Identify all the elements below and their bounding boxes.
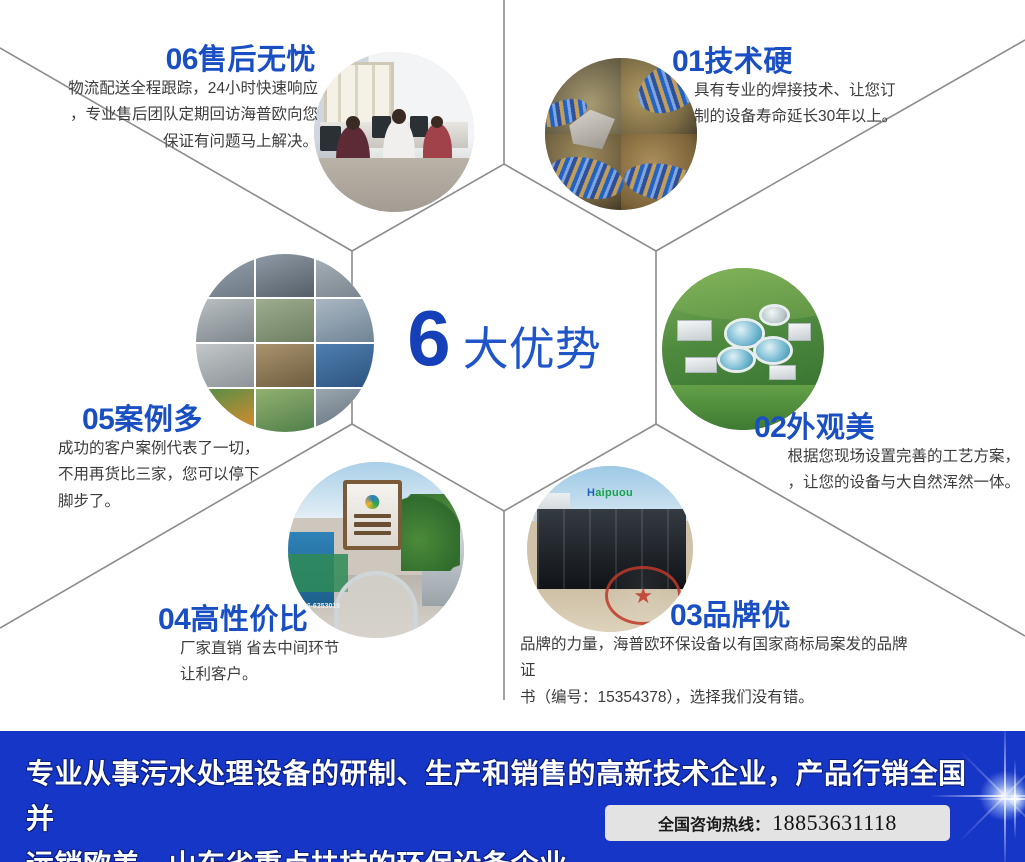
feature-03-title-text: 品牌优 [702,600,791,632]
feature-04-title: 04高性价比 [158,604,458,636]
feature-02-number: 02 [754,411,786,444]
bottom-banner: 专业从事污水处理设备的研制、生产和销售的高新技术企业，产品行销全国并 远销欧美，… [0,731,1025,862]
hotline-box[interactable]: 全国咨询热线： 18853631118 [605,805,950,841]
photo-office-team [314,52,474,212]
feature-03-number: 03 [670,599,702,632]
feature-06: 06售后无忧 物流配送全程跟踪，24小时快速响应 ，专业售后团队定期回访海普欧向… [18,44,318,155]
photo-aerial-plant [662,268,824,430]
center-label-text: 大优势 [463,326,601,372]
feature-02-title: 02外观美 [700,412,1020,444]
feature-03-title: 03品牌优 [520,600,920,632]
feature-02: 02外观美 根据您现场设置完善的工艺方案， ，让您的设备与大自然浑然一体。 [700,412,1020,497]
feature-06-body: 物流配送全程跟踪，24小时快速响应 ，专业售后团队定期回访海普欧向您 保证有问题… [18,76,318,156]
feature-03: 03品牌优 品牌的力量，海普欧环保设备以有国家商标局案发的品牌证 书（编号：15… [520,600,920,711]
hotline-number: 18853631118 [772,810,897,836]
feature-05-title-text: 案例多 [114,404,203,436]
feature-04: 04高性价比 厂家直销 省去中间环节 让利客户。 [158,604,458,689]
center-title: 6 大优势 [407,303,600,373]
feature-01-title-text: 技术硬 [704,46,793,78]
feature-04-title-text: 高性价比 [190,604,308,636]
feature-05-title: 05案例多 [58,404,338,436]
feature-04-body: 厂家直销 省去中间环节 让利客户。 [158,636,458,689]
feature-02-title-text: 外观美 [786,412,875,444]
feature-01-title: 01技术硬 [672,46,1002,78]
feature-05-body: 成功的客户案例代表了一切， 不用再货比三家，您可以停下 脚步了。 [58,436,338,516]
center-number: 6 [407,303,450,373]
feature-06-number: 06 [166,43,198,76]
feature-02-body: 根据您现场设置完善的工艺方案， ，让您的设备与大自然浑然一体。 [700,444,1020,497]
haipuou-logo: Haipuou [587,488,633,499]
feature-01: 01技术硬 具有专业的焊接技术、让您订 制的设备寿命延长30年以上。 [672,46,1002,131]
feature-01-body: 具有专业的焊接技术、让您订 制的设备寿命延长30年以上。 [672,78,1002,131]
feature-06-title-text: 售后无忧 [198,44,316,76]
feature-01-number: 01 [672,45,704,78]
feature-03-body: 品牌的力量，海普欧环保设备以有国家商标局案发的品牌证 书（编号：15354378… [520,632,920,712]
hotline-label: 全国咨询热线： [658,811,770,835]
feature-05-number: 05 [82,403,114,436]
feature-06-title: 06售后无忧 [18,44,318,76]
advantages-infographic: Haipuou ★ 0536-6353018 [0,0,1025,862]
feature-05: 05案例多 成功的客户案例代表了一切， 不用再货比三家，您可以停下 脚步了。 [58,404,338,515]
feature-04-number: 04 [158,603,190,636]
